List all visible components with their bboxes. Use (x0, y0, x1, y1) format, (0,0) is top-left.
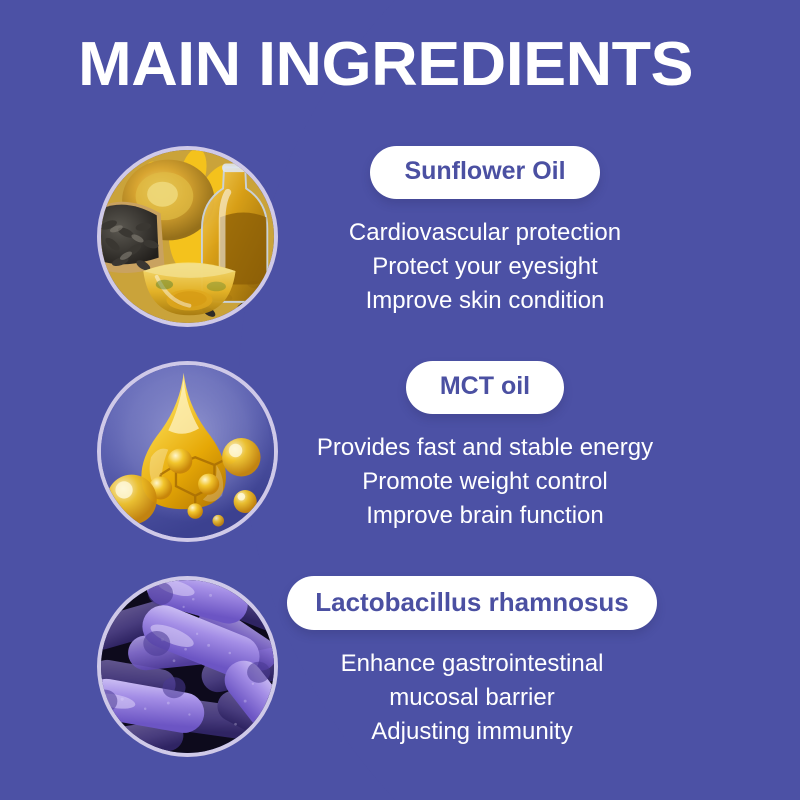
benefit-list: Provides fast and stable energy Promote … (290, 431, 680, 533)
benefit-item: mucosal barrier (272, 681, 672, 715)
benefit-list: Enhance gastrointestinal mucosal barrier… (272, 647, 672, 749)
benefit-item: Enhance gastrointestinal (272, 647, 672, 681)
benefit-item: Adjusting immunity (272, 715, 672, 749)
lactobacillus-copy: Lactobacillus rhamnosus Enhance gastroin… (272, 576, 672, 749)
benefit-item: Cardiovascular protection (290, 216, 680, 250)
ingredient-name-pill: Sunflower Oil (370, 146, 599, 199)
lactobacillus-bacteria-photo (97, 576, 278, 757)
mct-oil-copy: MCT oil Provides fast and stable energy … (290, 361, 680, 533)
benefit-item: Improve skin condition (290, 284, 680, 318)
ingredients-poster: MAIN INGREDIENTS (0, 0, 800, 800)
benefit-list: Cardiovascular protection Protect your e… (290, 216, 680, 318)
mct-oil-droplet-photo (97, 361, 278, 542)
page-title: MAIN INGREDIENTS (78, 34, 693, 96)
benefit-item: Promote weight control (290, 465, 680, 499)
ingredient-name-pill: Lactobacillus rhamnosus (287, 576, 657, 630)
sunflower-oil-photo (97, 146, 278, 327)
sunflower-oil-copy: Sunflower Oil Cardiovascular protection … (290, 146, 680, 318)
benefit-item: Provides fast and stable energy (290, 431, 680, 465)
ingredient-name-pill: MCT oil (406, 361, 564, 414)
benefit-item: Improve brain function (290, 499, 680, 533)
benefit-item: Protect your eyesight (290, 250, 680, 284)
